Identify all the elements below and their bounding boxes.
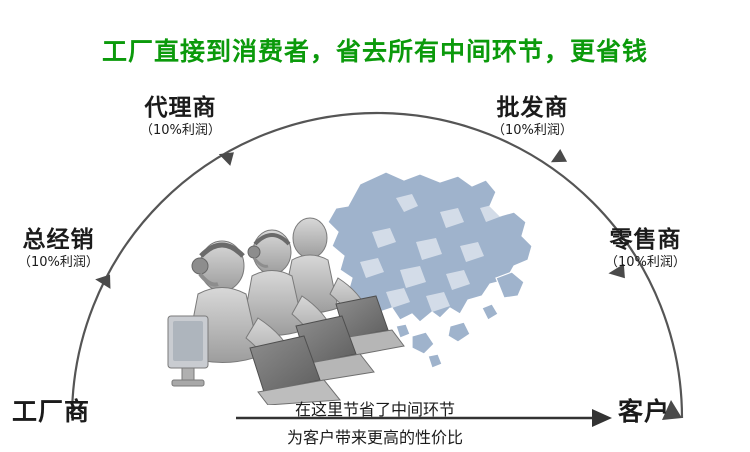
node-factory: 工厂商	[12, 398, 90, 428]
node-retailer-note: （10%利润）	[605, 255, 686, 272]
node-general-distributor: 总经销 （10%利润）	[18, 228, 99, 272]
node-agent-note: （10%利润）	[140, 123, 221, 140]
node-agent: 代理商 （10%利润）	[140, 96, 221, 140]
node-customer: 客户	[618, 398, 670, 428]
node-retailer-label: 零售商	[605, 228, 686, 253]
caption-line-1: 在这里节省了中间环节	[255, 396, 495, 420]
page-title: 工厂直接到消费者，省去所有中间环节，更省钱	[0, 32, 750, 68]
call-center-agents-illustration	[160, 180, 420, 405]
node-factory-label: 工厂商	[12, 398, 90, 426]
node-retailer: 零售商 （10%利润）	[605, 228, 686, 272]
node-general-distributor-label: 总经销	[18, 228, 99, 253]
node-wholesaler: 批发商 （10%利润）	[492, 96, 573, 140]
node-customer-label: 客户	[618, 398, 670, 426]
caption-line-2: 为客户带来更高的性价比	[255, 424, 495, 448]
diagram-canvas: 工厂直接到消费者，省去所有中间环节，更省钱	[0, 0, 750, 452]
node-wholesaler-note: （10%利润）	[492, 123, 573, 140]
node-agent-label: 代理商	[140, 96, 221, 121]
node-general-distributor-note: （10%利润）	[18, 255, 99, 272]
node-wholesaler-label: 批发商	[492, 96, 573, 121]
